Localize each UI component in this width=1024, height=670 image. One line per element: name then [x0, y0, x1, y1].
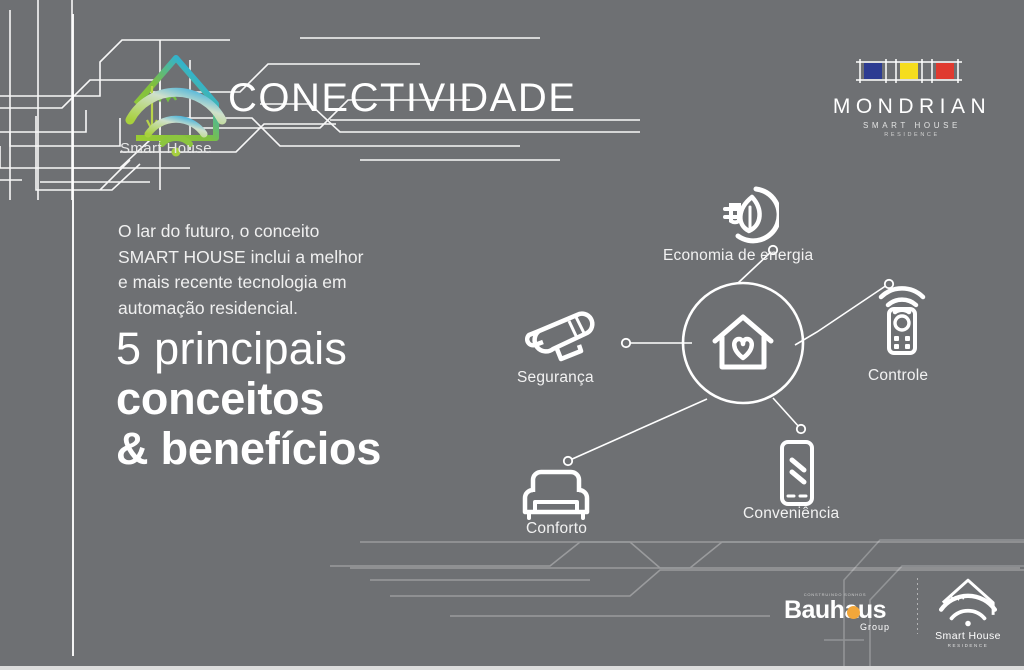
intro-paragraph: O lar do futuro, o conceito SMART HOUSE …	[118, 219, 428, 322]
bottom-rule	[0, 666, 1024, 670]
mondrian-subtitle2: RESIDENCE	[826, 132, 998, 138]
headline-line-3: & benefícios	[116, 424, 381, 474]
smartphone-icon	[774, 438, 820, 510]
blue-square	[864, 63, 882, 79]
headline: 5 principais conceitos & benefícios	[116, 325, 381, 474]
slide-root: Smart House CONECTIVIDADE MONDRIAN SMART…	[0, 0, 1024, 670]
house-heart-icon	[709, 311, 777, 375]
mondrian-subtitle: SMART HOUSE	[826, 121, 998, 130]
connector-dot-seguranca	[622, 339, 630, 347]
paragraph-line: O lar do futuro, o conceito	[118, 219, 428, 245]
mondrian-color-marks	[852, 56, 972, 86]
smart-house-footer-subtitle: RESIDENCE	[922, 643, 1014, 648]
connector-dot-conveniencia	[797, 425, 805, 433]
paragraph-line: SMART HOUSE inclui a melhor	[118, 245, 428, 271]
paragraph-line: automação residencial.	[118, 296, 428, 322]
yellow-square	[900, 63, 918, 79]
armchair-icon	[517, 468, 595, 524]
headline-line-2: conceitos	[116, 374, 381, 424]
headline-line-1: 5 principais	[116, 325, 381, 374]
paragraph-line: e mais recente tecnologia em	[118, 270, 428, 296]
mondrian-name: MONDRIAN	[826, 95, 998, 118]
node-label-seguranca: Segurança	[517, 369, 594, 387]
node-label-energia: Economia de energia	[663, 247, 813, 265]
smart-house-logo-label: Smart House	[120, 140, 212, 157]
bauhaus-name-text: Bauhaus	[784, 596, 886, 624]
smart-house-wifi-logo-white	[929, 573, 1007, 629]
connector-dot-conforto	[564, 457, 572, 465]
node-label-controle: Controle	[868, 367, 928, 385]
smart-house-footer-name: Smart House	[922, 630, 1014, 642]
leaf-plug-icon	[717, 183, 779, 245]
bauhaus-name: Bauhaus	[784, 598, 886, 623]
bauhaus-dot-icon	[847, 606, 860, 619]
security-camera-icon	[519, 307, 605, 367]
mondrian-logo: MONDRIAN SMART HOUSE RESIDENCE	[826, 56, 998, 138]
bauhaus-logo: CONSTRUINDO SONHOS Bauhaus Group	[780, 592, 890, 632]
smart-house-footer-logo: Smart House RESIDENCE	[922, 573, 1014, 648]
remote-control-icon	[871, 279, 933, 357]
red-square	[936, 63, 954, 79]
left-vertical-divider	[72, 14, 74, 656]
page-title: CONECTIVIDADE	[228, 78, 576, 118]
concepts-diagram: Economia de energia Controle Conveniênci…	[495, 175, 1015, 545]
footer-separator	[917, 578, 918, 634]
